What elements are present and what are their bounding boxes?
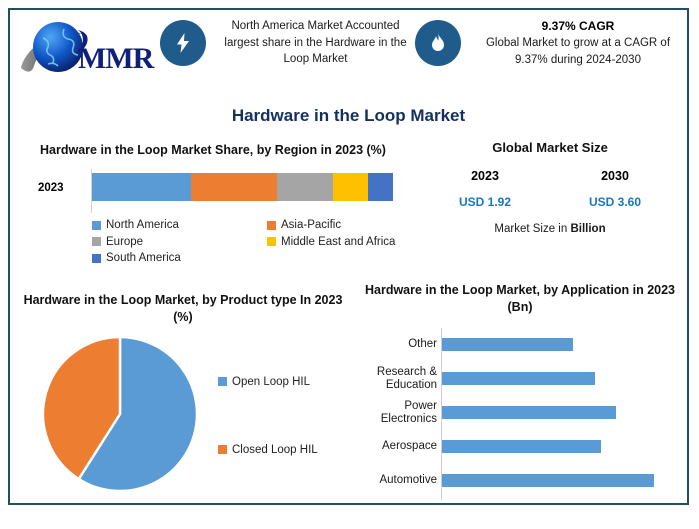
region-chart-category-label: 2023 (38, 182, 64, 194)
legend-swatch (92, 237, 101, 246)
market-size-unit-prefix: Market Size in (494, 223, 570, 235)
global-market-size-title: Global Market Size (420, 140, 680, 155)
legend-row: South America (92, 250, 422, 267)
cagr-description: Global Market to grow at a CAGR of 9.37%… (486, 37, 670, 66)
legend-row: EuropeMiddle East and Africa (92, 234, 422, 251)
market-size-value: USD 3.60 (550, 195, 680, 209)
legend-swatch (92, 221, 101, 230)
application-bar (442, 406, 616, 419)
application-bar-row: Automotive (355, 464, 685, 498)
mmr-logo: MMR (16, 16, 156, 86)
region-chart-plot: 2023 (18, 169, 408, 213)
market-size-year: 2023 (420, 169, 550, 183)
application-chart: Hardware in the Loop Market, by Applicat… (355, 282, 685, 504)
pie-chart-svg (40, 334, 200, 494)
legend-label: Middle East and Africa (281, 234, 395, 251)
legend-label: North America (106, 217, 179, 234)
stacked-bar-segment (191, 173, 277, 201)
cagr-highlight: 9.37% CAGR (471, 18, 685, 35)
legend-swatch (267, 221, 276, 230)
application-bar (442, 440, 601, 453)
header-stat-region-text: North America Market Accounted largest s… (216, 18, 415, 68)
pie-chart-plot: Open Loop HIL Closed Loop HIL (18, 334, 348, 502)
lightning-bolt-icon (160, 20, 206, 66)
logo-wordmark: MMR (78, 42, 153, 76)
legend-swatch (92, 254, 101, 263)
application-bar (442, 372, 595, 385)
legend-label: Asia-Pacific (281, 217, 341, 234)
application-chart-plot: OtherResearch & EducationPower Electroni… (355, 328, 685, 500)
global-market-size-panel: Global Market Size 2023 USD 1.92 2030 US… (420, 140, 680, 235)
header-stat-cagr-text: 9.37% CAGR Global Market to grow at a CA… (471, 18, 685, 69)
legend-item: Europe (92, 234, 267, 251)
legend-item: Middle East and Africa (267, 234, 395, 251)
application-bar-label: Aerospace (355, 440, 441, 453)
product-type-chart: Hardware in the Loop Market, by Product … (18, 292, 348, 502)
application-bar (442, 338, 573, 351)
flame-icon (415, 20, 461, 66)
infographic-card: MMR North America Market Accounted large… (8, 8, 689, 505)
market-size-value: USD 1.92 (420, 195, 550, 209)
region-stacked-bar (92, 173, 393, 201)
stacked-bar-segment (277, 173, 333, 201)
region-chart-legend: North AmericaAsia-PacificEuropeMiddle Ea… (92, 217, 422, 267)
legend-item: Open Loop HIL (218, 376, 310, 388)
stacked-bar-segment (368, 173, 393, 201)
application-bar-row: Other (355, 328, 685, 362)
header-band: MMR North America Market Accounted large… (10, 10, 687, 96)
header-stat-region: North America Market Accounted largest s… (160, 18, 415, 68)
application-bar-row: Aerospace (355, 430, 685, 464)
application-bar-row: Power Electronics (355, 396, 685, 430)
legend-item: Asia-Pacific (267, 217, 341, 234)
page-title: Hardware in the Loop Market (10, 106, 687, 126)
application-bar (442, 474, 654, 487)
legend-swatch (267, 237, 276, 246)
legend-swatch-open-loop (218, 377, 227, 386)
header-stat-cagr: 9.37% CAGR Global Market to grow at a CA… (415, 18, 685, 69)
legend-label: Europe (106, 234, 143, 251)
legend-item: South America (92, 250, 267, 267)
market-size-unit: Market Size in Billion (420, 223, 680, 235)
legend-label: South America (106, 250, 181, 267)
application-bar-label: Other (355, 338, 441, 351)
region-share-chart: Hardware in the Loop Market Share, by Re… (18, 142, 408, 282)
application-bar-label: Automotive (355, 474, 441, 487)
application-chart-title: Hardware in the Loop Market, by Applicat… (355, 282, 685, 316)
global-market-size-columns: 2023 USD 1.92 2030 USD 3.60 (420, 169, 680, 209)
market-size-column-2030: 2030 USD 3.60 (550, 169, 680, 209)
stacked-bar-segment (92, 173, 191, 201)
legend-swatch-closed-loop (218, 445, 227, 454)
region-chart-title: Hardware in the Loop Market Share, by Re… (18, 142, 408, 159)
legend-label: Open Loop HIL (232, 376, 310, 388)
legend-row: North AmericaAsia-Pacific (92, 217, 422, 234)
legend-label: Closed Loop HIL (232, 444, 318, 456)
market-size-year: 2030 (550, 169, 680, 183)
market-size-column-2023: 2023 USD 1.92 (420, 169, 550, 209)
pie-chart-legend: Open Loop HIL Closed Loop HIL (218, 334, 348, 494)
legend-item: North America (92, 217, 267, 234)
pie-chart-title: Hardware in the Loop Market, by Product … (18, 292, 348, 326)
stacked-bar-segment (333, 173, 368, 201)
market-size-unit-bold: Billion (570, 223, 605, 235)
application-bar-row: Research & Education (355, 362, 685, 396)
application-bar-label: Power Electronics (355, 400, 441, 426)
application-bar-label: Research & Education (355, 366, 441, 392)
legend-item: Closed Loop HIL (218, 444, 318, 456)
